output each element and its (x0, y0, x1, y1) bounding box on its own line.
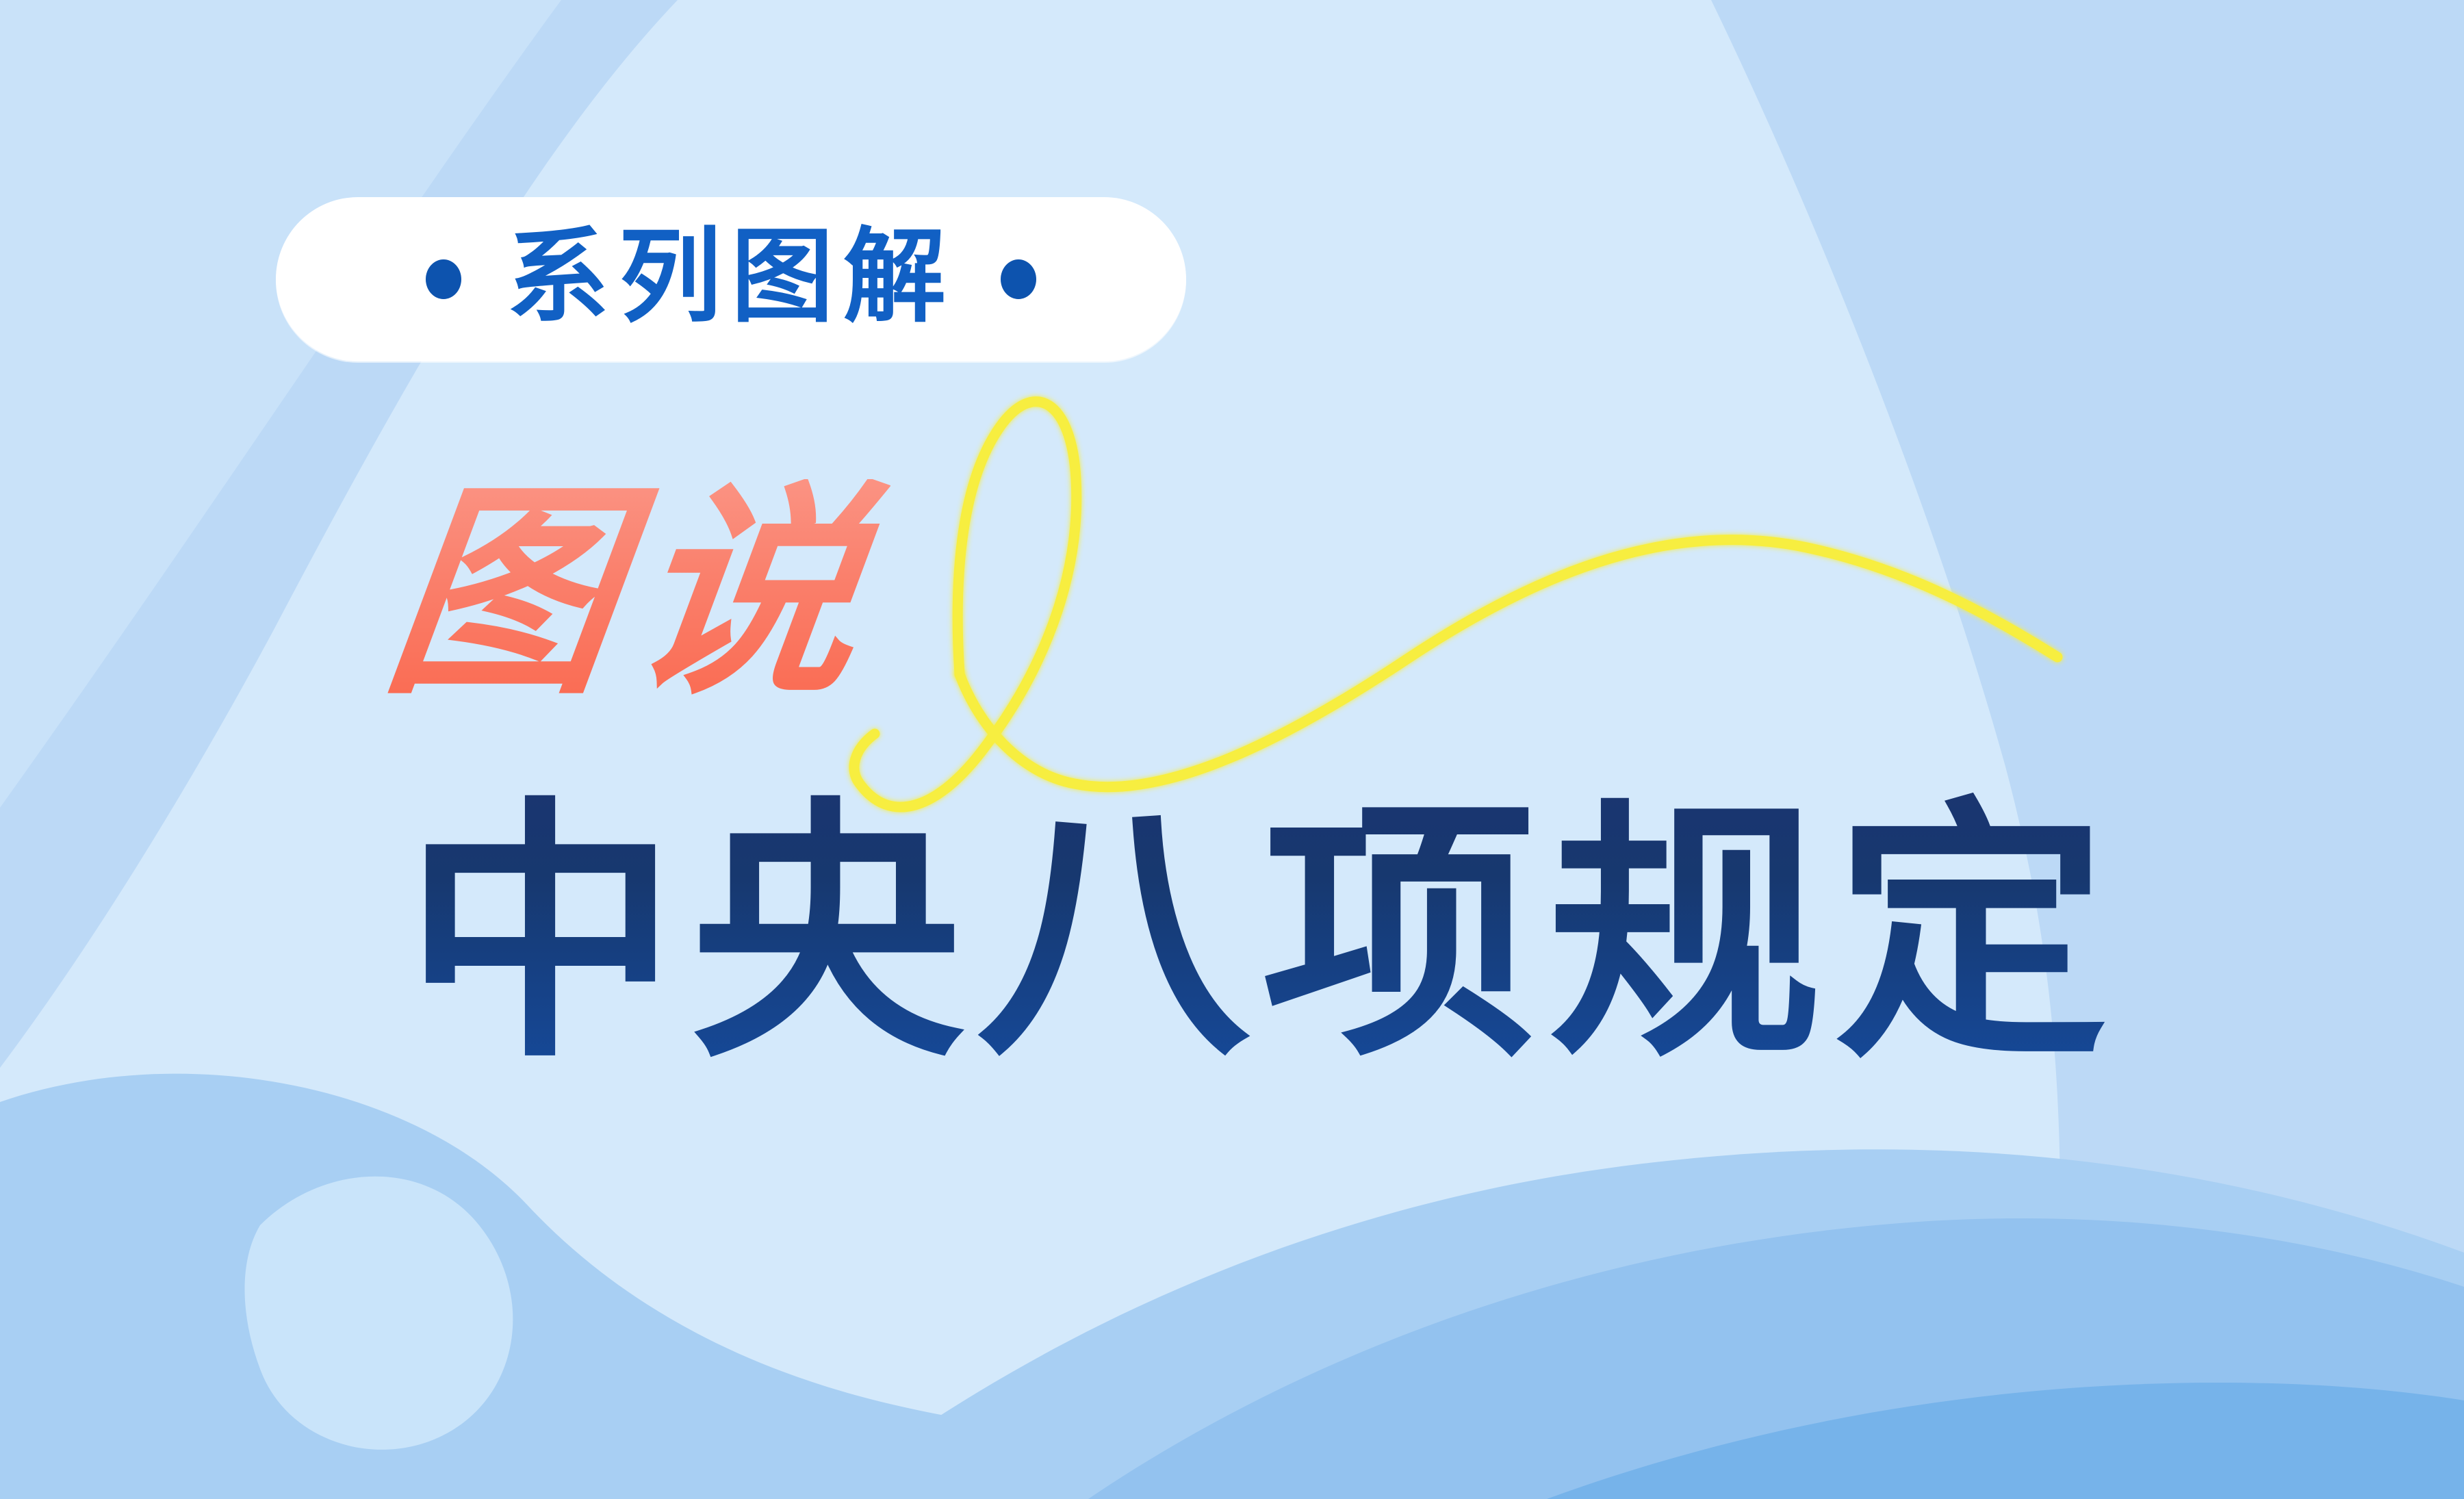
series-badge-label: 系列图解 (506, 225, 955, 328)
calligraphy-subtitle: 图说 (376, 479, 892, 705)
poster-canvas: 系列图解 图说 中央八项规定 (0, 0, 2464, 1499)
badge-dot-right (1001, 259, 1036, 299)
page-title: 中央八项规定 (404, 787, 2120, 1083)
badge-dot-left (426, 259, 461, 299)
series-badge: 系列图解 (276, 197, 1186, 361)
